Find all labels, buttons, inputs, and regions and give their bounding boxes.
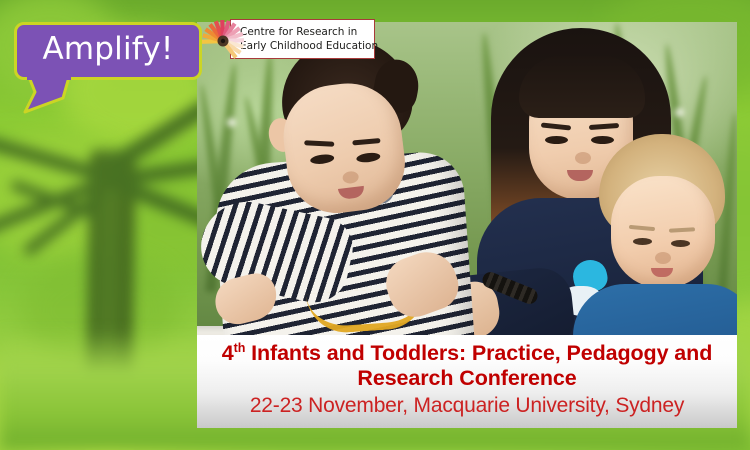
- crece-logo: Centre for Research in Early Childhood E…: [200, 16, 375, 62]
- speech-bubble-body: Amplify!: [14, 22, 202, 80]
- tree-branch: [0, 135, 102, 181]
- title-rest: Infants and Toddlers: Practice, Pedagogy…: [245, 341, 712, 365]
- boy-child: [219, 40, 509, 370]
- speech-bubble-text: Amplify!: [42, 34, 173, 68]
- conference-title: 4th Infants and Toddlers: Practice, Peda…: [213, 341, 721, 366]
- conference-title-line2: Research Conference: [213, 366, 721, 391]
- toddler-face: [611, 176, 715, 288]
- amplify-speech-bubble: Amplify!: [14, 22, 210, 110]
- title-ordinal: 4: [222, 341, 234, 365]
- logo-line-2: Early Childhood Education: [240, 39, 374, 53]
- conference-poster: ONE: [0, 0, 750, 450]
- adult-fringe: [519, 56, 645, 118]
- logo-text-box: Centre for Research in Early Childhood E…: [230, 19, 375, 59]
- title-ordinal-suffix: th: [234, 341, 246, 355]
- caption-panel: 4th Infants and Toddlers: Practice, Peda…: [197, 335, 737, 428]
- logo-line-1: Centre for Research in: [240, 25, 374, 39]
- coloured-pencil-fan-icon: [200, 16, 246, 62]
- conference-date-venue: 22-23 November, Macquarie University, Sy…: [213, 392, 721, 419]
